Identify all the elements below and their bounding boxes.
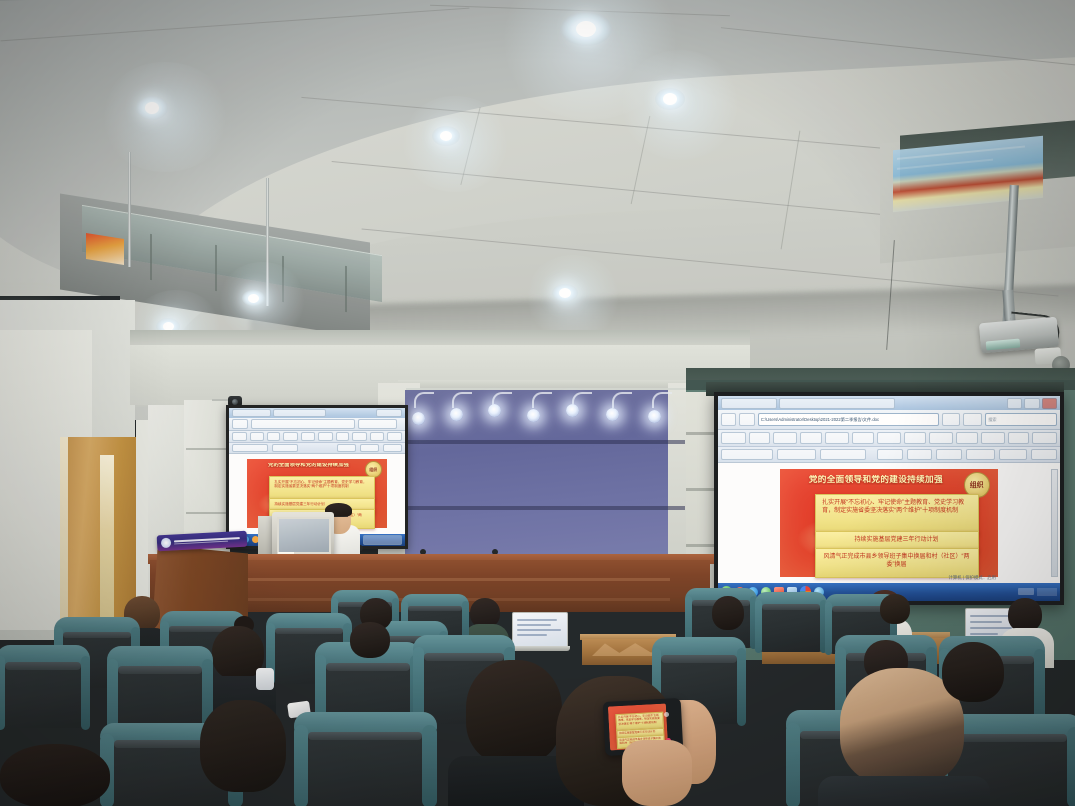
institution-logo bbox=[161, 538, 172, 549]
backdrop-seam bbox=[405, 506, 685, 510]
spotlight-track bbox=[406, 388, 686, 390]
stage-spotlight bbox=[488, 404, 501, 417]
face-mask bbox=[256, 668, 274, 690]
stage-spotlight bbox=[412, 412, 425, 425]
backdrop-seam bbox=[405, 440, 685, 444]
stage-backdrop bbox=[405, 390, 685, 580]
ceiling-downlight bbox=[432, 126, 460, 146]
browser-favorites-bar[interactable] bbox=[718, 430, 1060, 447]
door-glass-panel bbox=[100, 455, 114, 625]
railing-mullion bbox=[150, 234, 152, 280]
stage-spotlight bbox=[527, 409, 540, 422]
clock bbox=[1037, 588, 1057, 596]
stage-spotlight bbox=[648, 410, 661, 423]
ceiling-rod bbox=[266, 178, 269, 306]
auditorium-seat[interactable] bbox=[300, 716, 430, 806]
stage-spotlight bbox=[566, 404, 579, 417]
shutter-icon[interactable] bbox=[664, 712, 669, 717]
spotlight-arm bbox=[452, 392, 472, 408]
slide-title: 党的全面领导和党的建设持续加强 bbox=[791, 475, 962, 485]
monitor-screen bbox=[277, 517, 331, 554]
browser-search-input[interactable]: 搜索 bbox=[988, 417, 996, 423]
spotlight-arm bbox=[414, 392, 434, 408]
ceiling-rod bbox=[128, 152, 131, 267]
auditorium-seat[interactable] bbox=[0, 648, 86, 728]
ceiling-downlight bbox=[136, 96, 168, 120]
browser-titlebar bbox=[718, 396, 1060, 410]
railing-mullion bbox=[215, 245, 217, 291]
browser-titlebar bbox=[229, 408, 405, 418]
conference-hall-photo: 党的全面领导和党的建设持续加强 组织 扎实开展“不忘初心、牢记使命”主题教育、党… bbox=[0, 0, 1075, 806]
browser-scrollbar[interactable] bbox=[1051, 469, 1058, 577]
right-projection-screen: C:\Users\Administrator\Desktop\2021-2022… bbox=[714, 392, 1064, 605]
ceiling-downlight bbox=[552, 284, 578, 302]
presentation-slide: 党的全面领导和党的建设持续加强 组织 扎实开展“不忘初心、牢记使命”主题教育、党… bbox=[780, 469, 999, 577]
spotlight-arm bbox=[612, 392, 632, 408]
browser-toolbar[interactable] bbox=[718, 447, 1060, 462]
spotlight-arm bbox=[532, 392, 552, 408]
stage-spotlight bbox=[606, 408, 619, 421]
browser-favorites-bar[interactable] bbox=[229, 431, 405, 443]
browser-address-bar[interactable] bbox=[229, 418, 405, 431]
tray-icon[interactable] bbox=[1018, 588, 1034, 595]
ceiling-downlight bbox=[242, 290, 265, 306]
hand-lower bbox=[622, 740, 692, 806]
browser-viewport: 党的全面领导和党的建设持续加强 组织 扎实开展“不忘初心、牢记使命”主题教育、党… bbox=[718, 463, 1060, 583]
auditorium-seat[interactable] bbox=[758, 594, 824, 652]
slide-title: 党的全面领导和党的建设持续加强 bbox=[254, 463, 364, 469]
ceiling-downlight bbox=[655, 88, 685, 110]
ceiling-downlight bbox=[560, 12, 612, 46]
browser-toolbar[interactable] bbox=[229, 443, 405, 454]
browser-status-text: 计算机 | 保护模式：启用 bbox=[949, 575, 997, 581]
railing-mullion bbox=[282, 256, 284, 302]
wall-groove bbox=[186, 512, 228, 514]
table-inlay bbox=[200, 578, 670, 581]
railing-mullion bbox=[345, 266, 347, 312]
browser-address-bar[interactable]: C:\Users\Administrator\Desktop\2021-2022… bbox=[718, 410, 1060, 429]
spotlight-arm bbox=[652, 392, 672, 408]
slide-box-3: 风清气正完成市县乡领导班子集中换届和村（社区）“两委”换届 bbox=[815, 548, 979, 577]
wall-groove bbox=[186, 448, 228, 450]
address-bar-value[interactable]: C:\Users\Administrator\Desktop\2021-2022… bbox=[761, 417, 879, 423]
stage-spotlight bbox=[450, 408, 463, 421]
browser-window-right: C:\Users\Administrator\Desktop\2021-2022… bbox=[718, 396, 1060, 601]
slide-box-1: 扎实开展“不忘初心、牢记使命”主题教育、党史学习教育，制定实施省委坚决落实“两个… bbox=[815, 494, 979, 535]
